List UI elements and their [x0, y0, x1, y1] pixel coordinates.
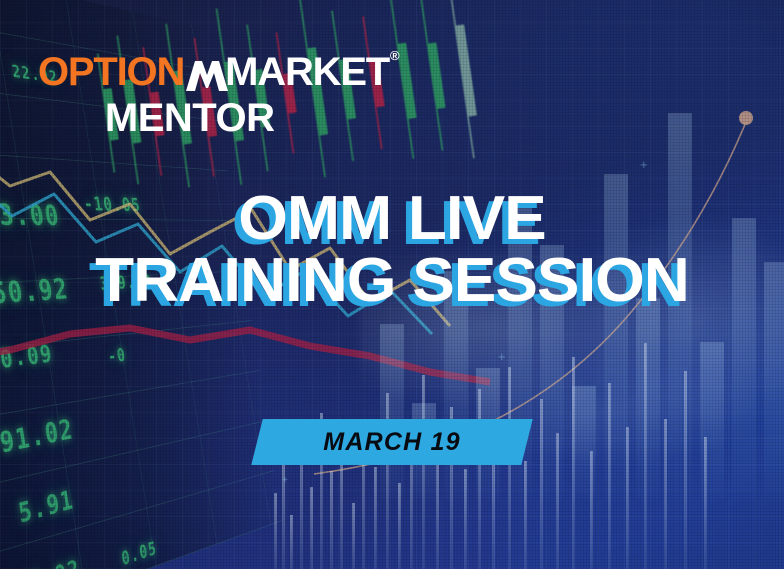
logo-line-primary: OPTION MARKET ® — [38, 52, 397, 92]
headline-line-2: TRAINING SESSION — [0, 252, 784, 310]
brand-logo[interactable]: OPTION MARKET ® MENTOR — [38, 52, 397, 138]
logo-word-market: MARKET — [225, 52, 389, 92]
headline-line-1: OMM LIVE — [0, 190, 784, 248]
logo-word-mentor: MENTOR — [38, 98, 397, 138]
date-badge-container: MARCH 19 — [0, 419, 784, 465]
page-title: OMM LIVE TRAINING SESSION — [0, 190, 784, 309]
upward-arrow-m-icon — [186, 58, 228, 88]
date-badge: MARCH 19 — [251, 419, 532, 465]
promo-banner: .32 52.16 22.02 48 6.00 78 9623.00 -10.0… — [0, 0, 784, 569]
date-badge-label: MARCH 19 — [257, 419, 527, 465]
registered-trademark-icon: ® — [390, 49, 398, 62]
banner-content: OPTION MARKET ® MENTOR OMM LIVE TRAINING… — [0, 0, 784, 569]
logo-word-option: OPTION — [38, 52, 184, 92]
